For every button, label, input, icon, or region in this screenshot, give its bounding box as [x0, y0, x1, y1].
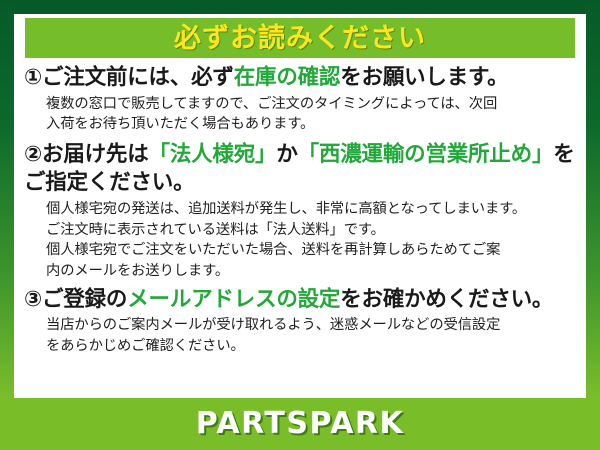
highlighted-text: 「法人様宛」 — [149, 142, 277, 167]
heading-text: ご登録の — [42, 287, 127, 312]
notice-body-line: 個人様宅宛の発送は、追加送料が発生し、非常に高額となってしまいます。 — [46, 199, 578, 220]
notice-item: ①ご注文前には、必ず在庫の確認をお願いします。複数の窓口で販売してますので、ご注… — [24, 64, 578, 135]
notice-item-body: 当店からのご案内メールが受け取れるよう、迷惑メールなどの受信設定をあらかじめご確… — [24, 315, 578, 356]
notice-item: ②お届け先は「法人様宛」か「西濃運輸の営業所止め」をご指定ください。個人様宅宛の… — [24, 141, 578, 282]
notice-body-line: をあらかじめご確認ください。 — [46, 336, 578, 357]
right-border-band — [586, 0, 600, 450]
notice-body-line: 内のメールをお送りします。 — [46, 261, 578, 282]
notice-item-number: ③ — [24, 287, 42, 312]
notice-body-line: 複数の窓口で販売してますので、ご注文のタイミングによっては、次回 — [46, 94, 578, 115]
notice-item-body: 個人様宅宛の発送は、追加送料が発生し、非常に高額となってしまいます。ご注文時に表… — [24, 199, 578, 282]
highlighted-text: 「西濃運輸の営業所止め」 — [298, 142, 554, 167]
notice-inner-card: 必ずお読みください ①ご注文前には、必ず在庫の確認をお願いします。複数の窓口で販… — [14, 14, 586, 398]
notice-body-line: ご注文時に表示されている送料は「法人送料」です。 — [46, 220, 578, 241]
notice-header-bar: 必ずお読みください — [25, 18, 575, 58]
notice-item-heading: ②お届け先は「法人様宛」か「西濃運輸の営業所止め」をご指定ください。 — [24, 141, 578, 197]
highlighted-text: メールアドレスの設定 — [127, 287, 340, 312]
left-border-band — [0, 0, 14, 450]
heading-text: をお願いします。 — [340, 65, 508, 90]
notice-card: 必ずお読みください ①ご注文前には、必ず在庫の確認をお願いします。複数の窓口で販… — [0, 0, 600, 450]
heading-text: ご注文前には、必ず — [42, 65, 234, 90]
notice-body-line: 当店からのご案内メールが受け取れるよう、迷惑メールなどの受信設定 — [46, 315, 578, 336]
heading-text: か — [276, 142, 297, 167]
top-border-band — [0, 0, 600, 14]
notice-items-list: ①ご注文前には、必ず在庫の確認をお願いします。複数の窓口で販売してますので、ご注… — [14, 64, 586, 357]
notice-body-line: 個人様宅宛でご注文をいただいた場合、送料を再計算しあらためてご案 — [46, 240, 578, 261]
notice-item-number: ① — [24, 65, 42, 90]
notice-item-heading: ①ご注文前には、必ず在庫の確認をお願いします。 — [24, 64, 578, 92]
notice-item-body: 複数の窓口で販売してますので、ご注文のタイミングによっては、次回入荷をお待ち頂い… — [24, 94, 578, 135]
heading-text: をお確かめください。 — [340, 287, 553, 312]
notice-body-line: 入荷をお待ち頂いただく場合もあります。 — [46, 114, 578, 135]
notice-item-number: ② — [24, 142, 42, 167]
notice-title: 必ずお読みください — [174, 25, 426, 52]
footer-band — [0, 398, 600, 450]
notice-item-heading: ③ご登録のメールアドレスの設定をお確かめください。 — [24, 286, 578, 314]
notice-item: ③ご登録のメールアドレスの設定をお確かめください。当店からのご案内メールが受け取… — [24, 286, 578, 357]
heading-text: お届け先は — [42, 142, 149, 167]
highlighted-text: 在庫の確認 — [234, 65, 341, 90]
